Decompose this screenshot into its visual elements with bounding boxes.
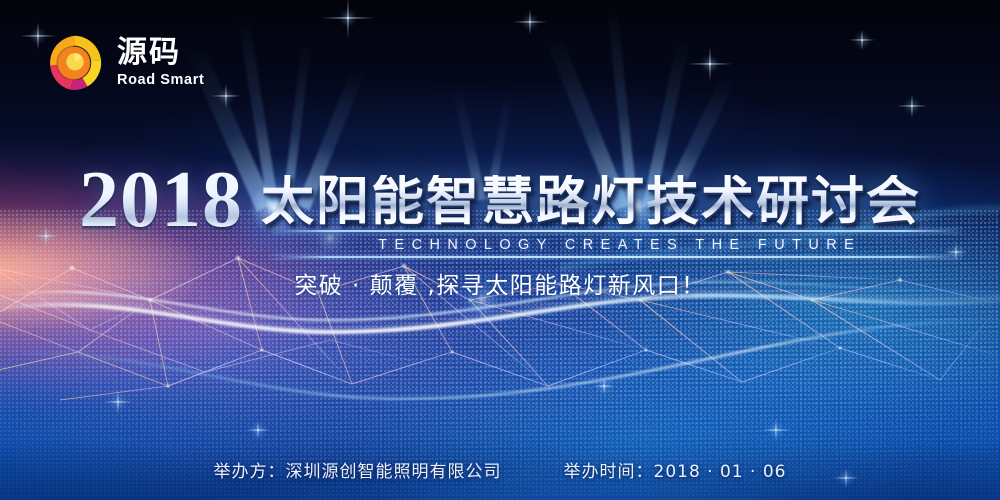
- subtitle-english: TECHNOLOGY CREATES THE FUTURE: [272, 233, 960, 256]
- footer-info: 举办方：深圳源创智能照明有限公司 举办时间：2018 · 01 · 06: [0, 457, 1000, 482]
- brand-name-cn: 源码: [117, 38, 204, 68]
- subtitle-chinese: 突破 · 颠覆 ,探寻太阳能路灯新风口！: [0, 266, 1000, 300]
- headline-block: 2018 太阳能智慧路灯技术研讨会: [0, 162, 1000, 240]
- event-datetime-text: 举办时间：2018 · 01 · 06: [564, 457, 787, 482]
- organizer-text: 举办方：深圳源创智能照明有限公司: [214, 457, 502, 482]
- swirl-circle-logo-icon: [44, 32, 106, 94]
- event-banner: 源码 Road Smart 2018 太阳能智慧路灯技术研讨会 TECHNOLO…: [0, 0, 1000, 500]
- page-title: 太阳能智慧路灯技术研讨会: [261, 175, 921, 228]
- brand-logo-text: 源码 Road Smart: [117, 38, 204, 88]
- divider-bottom: [272, 256, 960, 258]
- brand-name-en: Road Smart: [117, 73, 204, 88]
- event-year: 2018: [79, 164, 247, 238]
- brand-logo[interactable]: 源码 Road Smart: [44, 32, 204, 94]
- divider-top: [272, 230, 960, 232]
